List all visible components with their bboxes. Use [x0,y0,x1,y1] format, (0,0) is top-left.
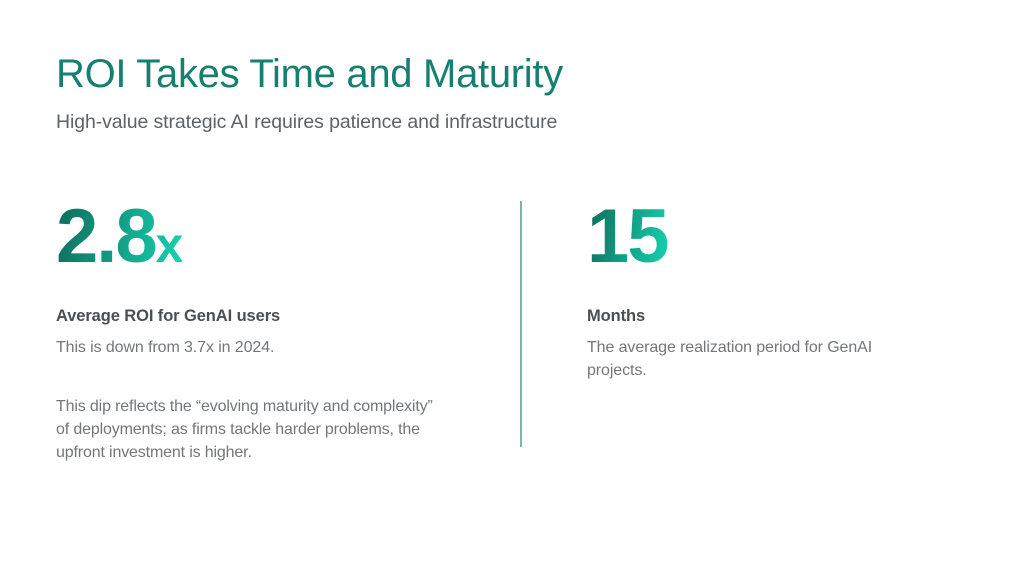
stat-value-roi-unit: x [156,217,183,273]
page-subtitle: High-value strategic AI requires patienc… [56,108,956,136]
stat-sub-roi: This is down from 3.7x in 2024. [56,336,356,359]
slide-header: ROI Takes Time and Maturity High-value s… [56,50,956,136]
stat-value-roi-number: 2.8 [56,194,156,279]
stat-note-roi: This dip reflects the “evolving maturity… [56,395,438,464]
stat-columns: 2.8x Average ROI for GenAI users This is… [0,195,1024,465]
page-title: ROI Takes Time and Maturity [56,50,956,98]
stat-value-roi: 2.8x [56,195,182,285]
stat-label-months: Months [587,305,917,327]
stat-label-roi: Average ROI for GenAI users [56,305,486,327]
stat-card-months: 15 Months The average realization period… [587,195,917,382]
slide-canvas: ROI Takes Time and Maturity High-value s… [0,0,1024,576]
stat-sub-months: The average realization period for GenAI… [587,336,887,382]
stat-value-months-number: 15 [587,194,668,279]
stat-card-roi: 2.8x Average ROI for GenAI users This is… [56,195,486,464]
stat-value-months: 15 [587,195,668,285]
column-divider [520,201,522,447]
